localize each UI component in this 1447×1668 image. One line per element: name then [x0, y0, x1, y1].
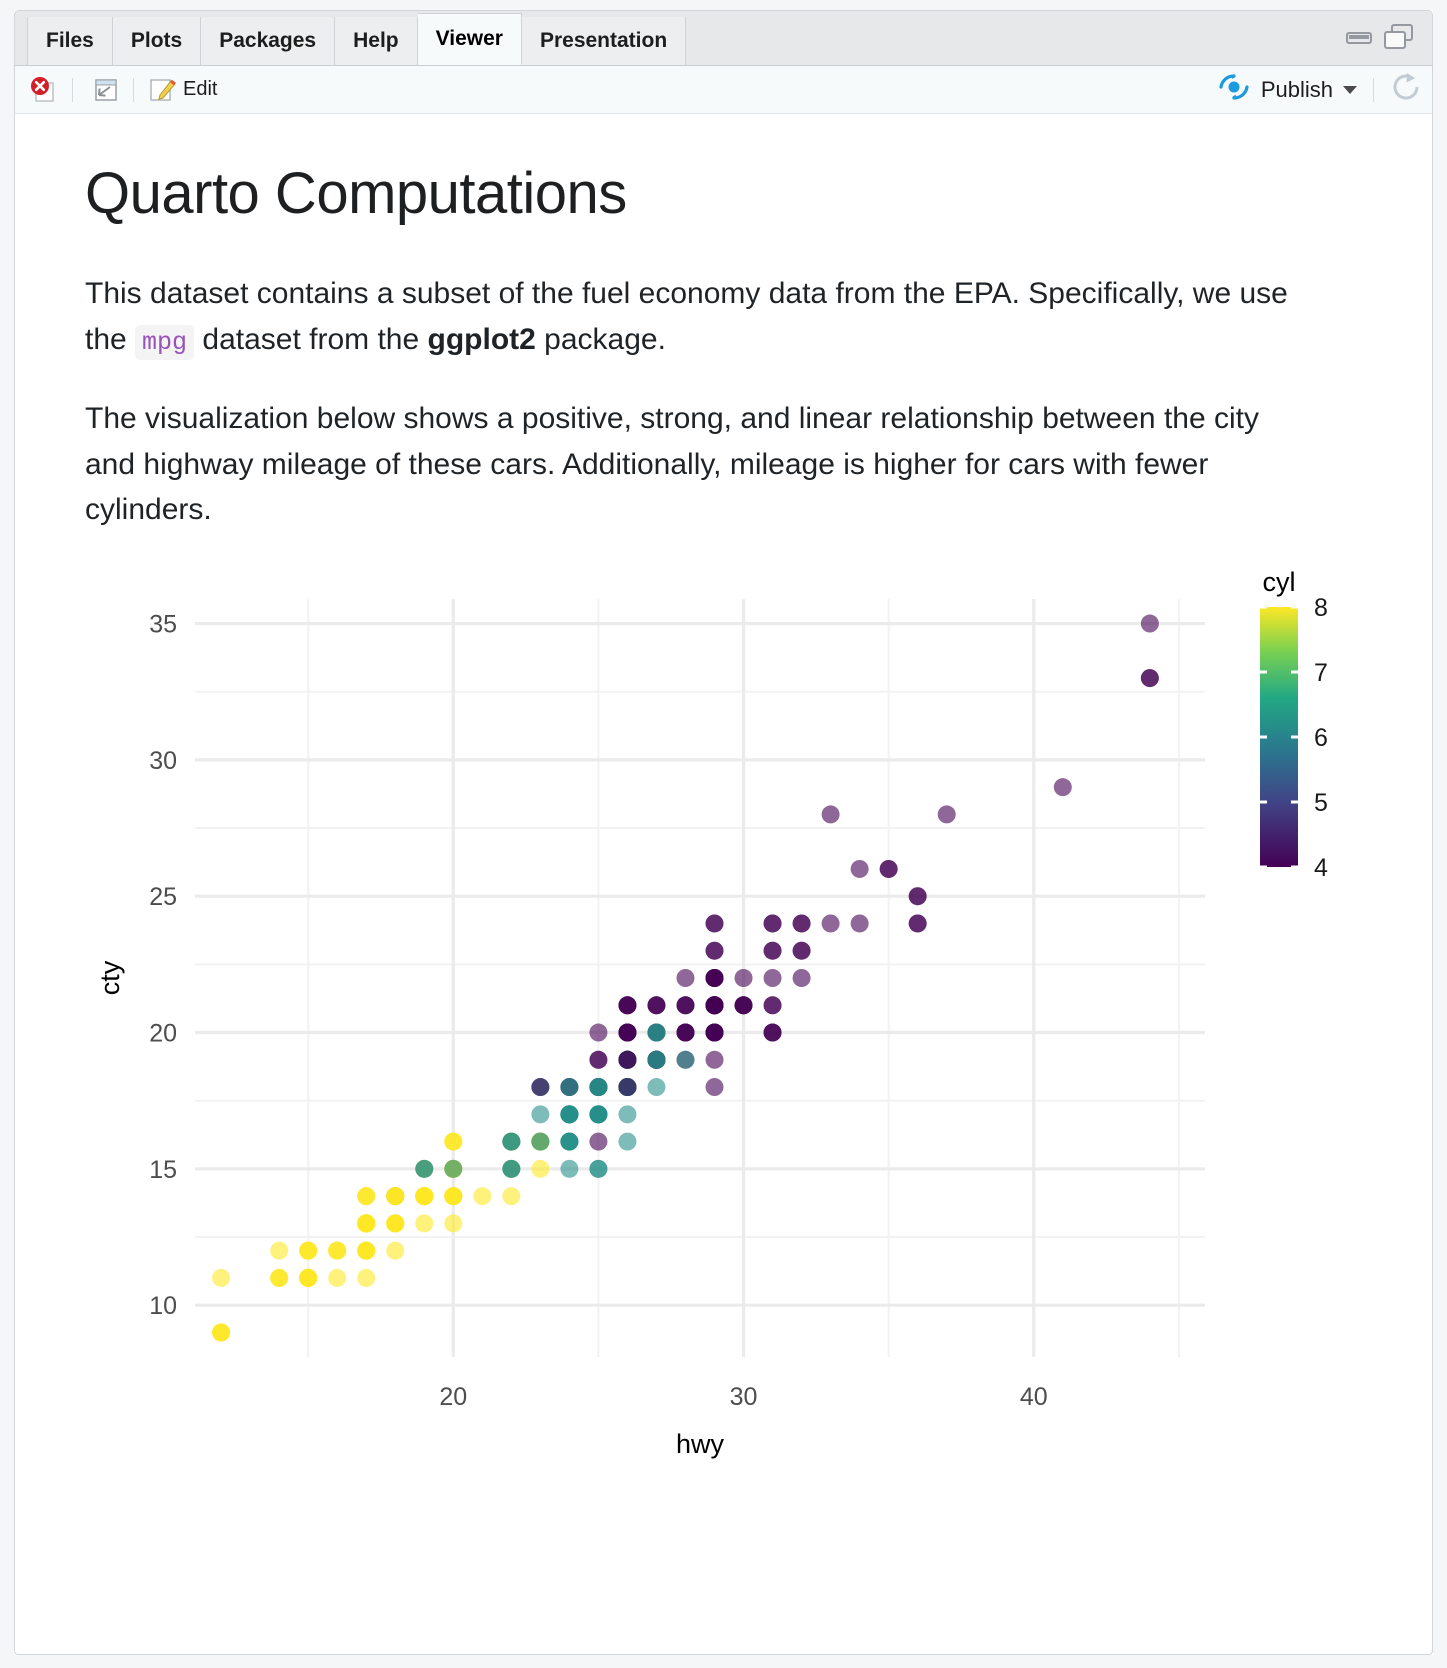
data-point [502, 1133, 520, 1151]
data-point [444, 1133, 462, 1151]
data-point [328, 1242, 346, 1260]
edit-button[interactable]: Edit [138, 66, 226, 113]
data-point [531, 1105, 549, 1123]
y-tick-label: 15 [149, 1156, 177, 1184]
data-point [531, 1133, 549, 1151]
data-point [357, 1242, 375, 1260]
data-point [676, 996, 694, 1014]
publish-group: Publish [1217, 71, 1432, 108]
data-point [618, 1078, 636, 1096]
legend-tick-label: 6 [1314, 724, 1328, 752]
data-point [444, 1160, 462, 1178]
data-point [328, 1269, 346, 1287]
data-point [589, 1105, 607, 1123]
data-point [938, 805, 956, 823]
x-axis-label: hwy [676, 1429, 725, 1459]
tab-label: Viewer [436, 27, 503, 51]
data-point [618, 1051, 636, 1069]
data-point [560, 1105, 578, 1123]
legend-tick-label: 8 [1314, 594, 1328, 622]
data-points [212, 615, 1159, 1342]
data-point [357, 1214, 375, 1232]
tab-viewer[interactable]: Viewer [418, 13, 522, 65]
data-point [647, 1023, 665, 1041]
data-point [706, 1023, 724, 1041]
analysis-paragraph: The visualization below shows a positive… [85, 396, 1300, 533]
tab-plots[interactable]: Plots [113, 17, 201, 65]
x-tick-label: 20 [439, 1383, 467, 1411]
show-in-new-window-icon [86, 75, 120, 105]
legend-tick-label: 7 [1314, 659, 1328, 687]
x-axis-tick-labels: 203040 [439, 1383, 1047, 1411]
data-point [706, 1078, 724, 1096]
data-point [706, 969, 724, 987]
data-point [589, 1051, 607, 1069]
tab-label: Help [353, 29, 399, 53]
data-point [415, 1187, 433, 1205]
viewer-toolbar: Edit Publish [14, 66, 1433, 114]
publish-label[interactable]: Publish [1261, 77, 1333, 103]
chevron-down-icon[interactable] [1343, 86, 1357, 94]
intro-paragraph: This dataset contains a subset of the fu… [85, 271, 1300, 362]
data-point [706, 942, 724, 960]
x-tick-label: 30 [730, 1383, 758, 1411]
colorbar-legend: cyl 87654 [1260, 567, 1328, 882]
data-point [706, 1051, 724, 1069]
package-name-bold: ggplot2 [428, 323, 536, 356]
data-point [444, 1187, 462, 1205]
edit-pencil-icon [147, 75, 177, 105]
data-point [560, 1133, 578, 1151]
data-point [386, 1187, 404, 1205]
tab-files[interactable]: Files [27, 17, 113, 65]
data-point [1054, 778, 1072, 796]
data-point [909, 887, 927, 905]
data-point [706, 996, 724, 1014]
data-point [589, 1078, 607, 1096]
data-point [647, 1051, 665, 1069]
y-tick-label: 25 [149, 883, 177, 911]
toolbar-divider [1373, 78, 1374, 102]
minor-gridlines [195, 599, 1205, 1357]
data-point [793, 942, 811, 960]
data-point [270, 1269, 288, 1287]
tab-presentation[interactable]: Presentation [522, 17, 686, 65]
data-point [415, 1214, 433, 1232]
data-point [676, 969, 694, 987]
data-point [735, 996, 753, 1014]
data-point [1141, 615, 1159, 633]
stop-button[interactable] [15, 66, 68, 113]
legend-tick-label: 5 [1314, 789, 1328, 817]
data-point [822, 805, 840, 823]
data-point [502, 1187, 520, 1205]
data-point [618, 1105, 636, 1123]
tab-label: Files [46, 29, 94, 53]
data-point [822, 914, 840, 932]
data-point [560, 1160, 578, 1178]
data-point [589, 1160, 607, 1178]
pane-tab-bar: Files Plots Packages Help Viewer Present… [14, 10, 1433, 66]
data-point [764, 942, 782, 960]
y-tick-label: 10 [149, 1292, 177, 1320]
data-point [531, 1160, 549, 1178]
x-tick-label: 40 [1020, 1383, 1048, 1411]
tab-label: Packages [219, 29, 316, 53]
data-point [1141, 669, 1159, 687]
legend-title: cyl [1263, 567, 1296, 597]
data-point [676, 1023, 694, 1041]
data-point [851, 860, 869, 878]
y-tick-label: 30 [149, 747, 177, 775]
data-point [676, 1051, 694, 1069]
legend-tick-label: 4 [1314, 854, 1328, 882]
data-point [589, 1133, 607, 1151]
data-point [793, 969, 811, 987]
data-point [647, 1078, 665, 1096]
data-point [212, 1323, 230, 1341]
data-point [357, 1187, 375, 1205]
tab-packages[interactable]: Packages [201, 17, 335, 65]
stop-icon [29, 75, 59, 105]
data-point [386, 1214, 404, 1232]
scatter-plot-figure: 203040 101520253035 hwy cty [85, 567, 1375, 1467]
data-point [618, 1023, 636, 1041]
data-point [764, 1023, 782, 1041]
y-tick-label: 35 [149, 611, 177, 639]
page-title: Quarto Computations [85, 160, 1372, 227]
data-point [735, 969, 753, 987]
tab-label: Plots [131, 29, 182, 53]
data-point [764, 914, 782, 932]
inline-code-mpg: mpg [135, 325, 194, 360]
data-point [909, 914, 927, 932]
data-point [764, 996, 782, 1014]
paragraph-text: package. [536, 323, 666, 356]
data-point [473, 1187, 491, 1205]
data-point [618, 1133, 636, 1151]
scatter-plot-svg: 203040 101520253035 hwy cty [85, 567, 1375, 1467]
y-axis-label: cty [95, 960, 125, 995]
maximize-icon[interactable] [1384, 24, 1414, 55]
data-point [357, 1269, 375, 1287]
data-point [764, 969, 782, 987]
data-point [502, 1160, 520, 1178]
window-controls [1346, 24, 1414, 55]
minimize-icon[interactable] [1346, 28, 1372, 51]
data-point [589, 1023, 607, 1041]
viewer-pane: Files Plots Packages Help Viewer Present… [14, 10, 1433, 1655]
data-point [270, 1242, 288, 1260]
toolbar-divider [72, 78, 73, 102]
data-point [793, 914, 811, 932]
edit-label: Edit [183, 78, 217, 101]
refresh-icon[interactable] [1390, 71, 1424, 108]
paragraph-text: dataset from the [194, 323, 427, 356]
data-point [560, 1078, 578, 1096]
major-gridlines [195, 599, 1205, 1357]
data-point [299, 1269, 317, 1287]
data-point [212, 1269, 230, 1287]
open-in-new-window-button[interactable] [77, 66, 129, 113]
y-tick-label: 20 [149, 1020, 177, 1048]
data-point [415, 1160, 433, 1178]
viewer-document: Quarto Computations This dataset contain… [14, 114, 1433, 1655]
data-point [618, 996, 636, 1014]
data-point [647, 996, 665, 1014]
data-point [386, 1242, 404, 1260]
data-point [706, 914, 724, 932]
tab-help[interactable]: Help [335, 17, 418, 65]
y-axis-tick-labels: 101520253035 [149, 611, 177, 1321]
data-point [880, 860, 898, 878]
toolbar-divider [133, 78, 134, 102]
data-point [444, 1214, 462, 1232]
data-point [531, 1078, 549, 1096]
publish-icon[interactable] [1217, 73, 1251, 106]
data-point [299, 1242, 317, 1260]
tab-label: Presentation [540, 29, 667, 53]
data-point [851, 914, 869, 932]
